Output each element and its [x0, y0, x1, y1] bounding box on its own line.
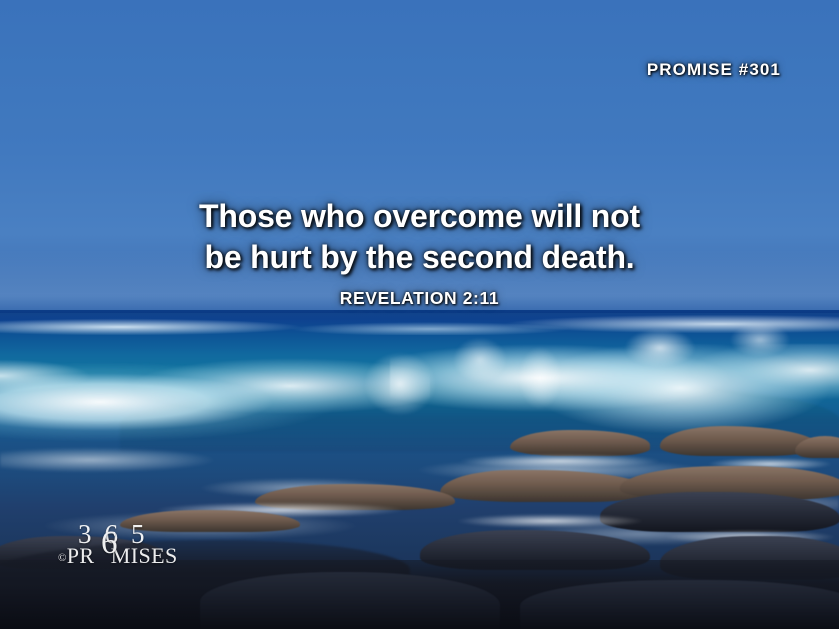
verse-line-2: be hurt by the second death. [0, 237, 839, 278]
rock-near-4 [120, 510, 300, 532]
wave-spray-center [330, 330, 590, 420]
foam-streak-1 [430, 452, 690, 470]
verse-text-block: Those who overcome will not be hurt by t… [0, 196, 839, 309]
rock-foreground-2 [520, 580, 839, 629]
verse-image-canvas: PROMISE #301 Those who overcome will not… [0, 0, 839, 629]
verse-line-1: Those who overcome will not [0, 196, 839, 237]
foam-streak-4 [430, 512, 670, 530]
promise-number-label: PROMISE #301 [647, 60, 781, 80]
rock-foreground-1 [200, 572, 500, 629]
wave-spray-right [600, 318, 839, 388]
verse-reference: REVELATION 2:11 [0, 288, 839, 309]
